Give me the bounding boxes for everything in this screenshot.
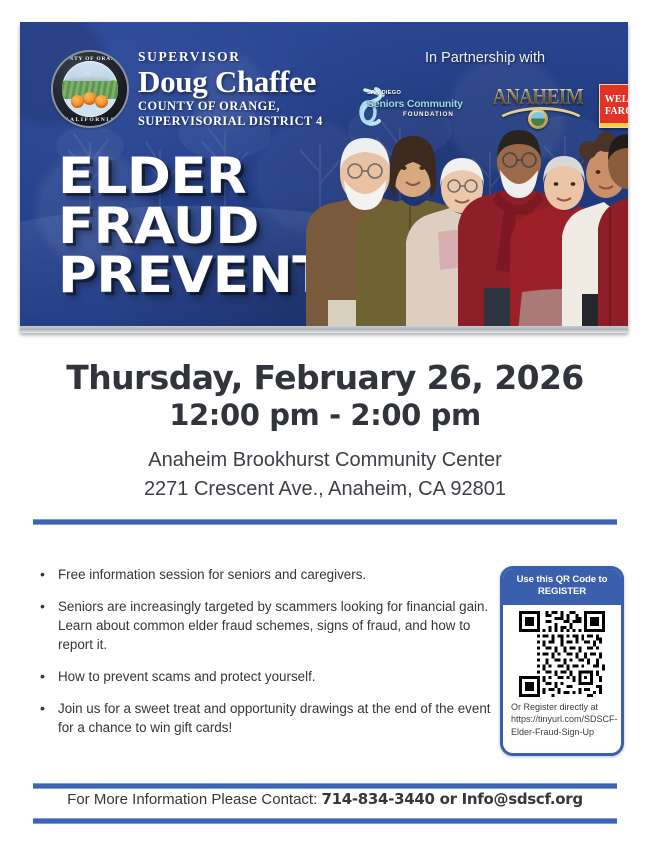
qr-card-heading: Use this QR Code to REGISTER [503,569,621,605]
bullet-list: Free information session for seniors and… [36,565,491,737]
event-banner: COUNTY OF ORANGE CALIFORNIA SUPERVISOR D… [20,22,628,332]
supervisor-office-line2: SUPERVISORIAL DISTRICT 4 [138,114,323,129]
wells-fargo-line1: WELLS [605,94,628,106]
qr-code-image[interactable] [519,611,605,697]
event-time: 12:00 pm - 2:00 pm [0,398,650,432]
list-item: Join us for a sweet treat and opportunit… [54,699,491,737]
divider-footer-bottom [33,818,617,824]
footer-prefix: For More Information Please Contact: [67,791,321,808]
supervisor-name: Doug Chaffee [138,66,323,98]
divider-footer-top [33,783,617,789]
venue-name: Anaheim Brookhurst Community Center [0,446,650,475]
list-item: Seniors are increasingly targeted by sca… [54,597,491,654]
divider-top [33,519,617,525]
supervisor-block: SUPERVISOR Doug Chaffee COUNTY OF ORANGE… [138,50,323,129]
qr-register-card[interactable]: Use this QR Code to REGISTER [500,566,624,756]
qr-register-note: Or Register directly at https://tinyurl.… [503,701,621,742]
sdscf-line1: SAN DIEGO [367,90,401,96]
list-item: How to prevent scams and protect yoursel… [54,667,491,686]
seal-top-text: COUNTY OF ORANGE [55,56,125,62]
footer-contact: For More Information Please Contact: 714… [0,790,650,808]
seniors-group-photo [298,114,628,332]
sdscf-line2: Seniors Community [367,98,463,110]
event-date: Thursday, February 26, 2026 [0,358,650,397]
list-item: Free information session for seniors and… [54,565,491,584]
details-bullet-list: Free information session for seniors and… [36,565,491,750]
event-venue: Anaheim Brookhurst Community Center 2271… [0,446,650,504]
seal-text-ring: COUNTY OF ORANGE CALIFORNIA [53,52,127,126]
seal-bottom-text: CALIFORNIA [64,117,115,123]
supervisor-office-line1: COUNTY OF ORANGE, [138,99,323,114]
partnership-label: In Partnership with [425,50,545,66]
footer-contact-value[interactable]: 714-834-3440 or Info@sdscf.org [321,790,582,808]
supervisor-kicker: SUPERVISOR [138,50,323,64]
venue-address: 2271 Crescent Ave., Anaheim, CA 92801 [0,475,650,504]
banner-bottom-edge [20,326,628,333]
county-of-orange-seal-icon: COUNTY OF ORANGE CALIFORNIA [53,52,127,126]
